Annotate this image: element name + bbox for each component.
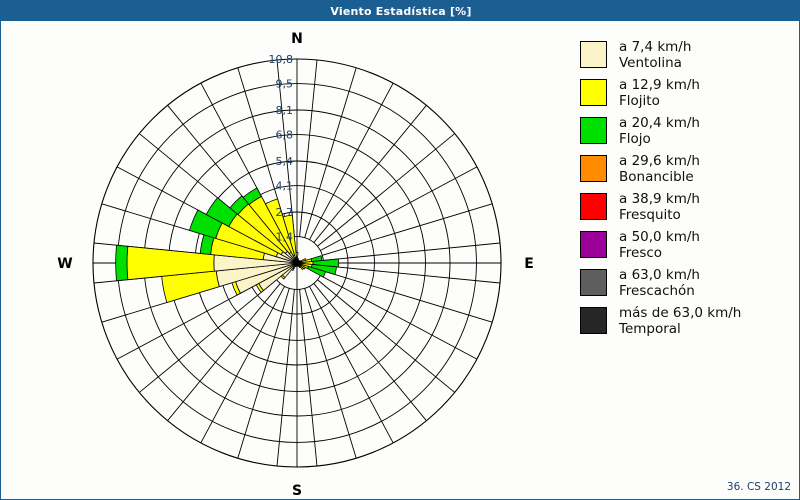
legend-label: a 50,0 km/hFresco (619, 229, 700, 261)
legend-speed: a 63,0 km/h (619, 267, 700, 283)
legend-speed: a 50,0 km/h (619, 229, 700, 245)
legend-speed: más de 63,0 km/h (619, 305, 741, 321)
grid-spoke (305, 68, 357, 238)
legend-swatch (580, 307, 607, 334)
legend-speed: a 20,4 km/h (619, 115, 700, 131)
radial-tick-label: 1,4 (276, 231, 294, 244)
legend-item[interactable]: a 38,9 km/hFresquito (580, 191, 795, 223)
compass-label-north: N (291, 31, 303, 47)
legend-item[interactable]: a 29,6 km/hBonancible (580, 153, 795, 185)
legend-speed: a 12,9 km/h (619, 77, 700, 93)
grid-spoke (238, 288, 290, 458)
legend-category: Flojito (619, 93, 700, 109)
grid-spoke (305, 288, 357, 458)
legend-category: Flojo (619, 131, 700, 147)
legend-label: a 38,9 km/hFresquito (619, 191, 700, 223)
grid-spoke (277, 289, 294, 466)
legend-category: Temporal (619, 321, 741, 337)
corner-note: 36. CS 2012 (727, 481, 791, 493)
legend-label: a 7,4 km/hVentolina (619, 39, 691, 71)
legend-item[interactable]: a 63,0 km/hFrescachón (580, 267, 795, 299)
legend-swatch (580, 117, 607, 144)
wind-statistics-window: Viento Estadística [%] 1,42,74,15,46,88,… (0, 0, 800, 500)
compass-label-east: E (524, 256, 534, 272)
legend: a 7,4 km/hVentolinaa 12,9 km/hFlojitoa 2… (580, 39, 795, 343)
grid-spoke (323, 266, 500, 283)
legend-speed: a 38,9 km/h (619, 191, 700, 207)
radial-tick-label: 5,4 (276, 155, 294, 168)
legend-category: Ventolina (619, 55, 691, 71)
wind-rose-chart: 1,42,74,15,46,88,19,510,8NSWE (2, 22, 580, 499)
grid-spoke (322, 271, 492, 323)
legend-speed: a 7,4 km/h (619, 39, 691, 55)
radial-tick-label: 6,8 (276, 129, 294, 142)
radial-tick-label: 8,1 (276, 104, 294, 117)
radial-tick-label: 4,1 (276, 180, 294, 193)
legend-item[interactable]: a 12,9 km/hFlojito (580, 77, 795, 109)
window-content: 1,42,74,15,46,88,19,510,8NSWE a 7,4 km/h… (2, 22, 799, 499)
legend-swatch (580, 231, 607, 258)
window-title-bar: Viento Estadística [%] (1, 1, 800, 21)
radial-tick-label: 9,5 (276, 78, 294, 91)
legend-swatch (580, 193, 607, 220)
legend-item[interactable]: más de 63,0 km/hTemporal (580, 305, 795, 337)
legend-item[interactable]: a 20,4 km/hFlojo (580, 115, 795, 147)
legend-label: a 12,9 km/hFlojito (619, 77, 700, 109)
legend-label: más de 63,0 km/hTemporal (619, 305, 741, 337)
legend-label: a 20,4 km/hFlojo (619, 115, 700, 147)
compass-label-west: W (57, 256, 72, 272)
grid-spoke (300, 60, 317, 237)
legend-swatch (580, 269, 607, 296)
legend-category: Fresquito (619, 207, 700, 223)
legend-swatch (580, 41, 607, 68)
grid-spoke (322, 204, 492, 256)
legend-category: Bonancible (619, 169, 700, 185)
legend-swatch (580, 155, 607, 182)
legend-category: Fresco (619, 245, 700, 261)
legend-item[interactable]: a 7,4 km/hVentolina (580, 39, 795, 71)
grid-spoke (323, 243, 500, 260)
window-title: Viento Estadística [%] (330, 5, 471, 18)
legend-label: a 63,0 km/hFrescachón (619, 267, 700, 299)
grid-spoke (300, 289, 317, 466)
compass-label-south: S (292, 483, 302, 499)
radial-tick-label: 2,7 (276, 206, 294, 219)
legend-item[interactable]: a 50,0 km/hFresco (580, 229, 795, 261)
wind-rose-sector (116, 245, 128, 281)
legend-swatch (580, 79, 607, 106)
legend-label: a 29,6 km/hBonancible (619, 153, 700, 185)
legend-speed: a 29,6 km/h (619, 153, 700, 169)
radial-tick-label: 10,8 (269, 53, 294, 66)
legend-category: Frescachón (619, 283, 700, 299)
wind-rose-sectors (116, 188, 339, 302)
